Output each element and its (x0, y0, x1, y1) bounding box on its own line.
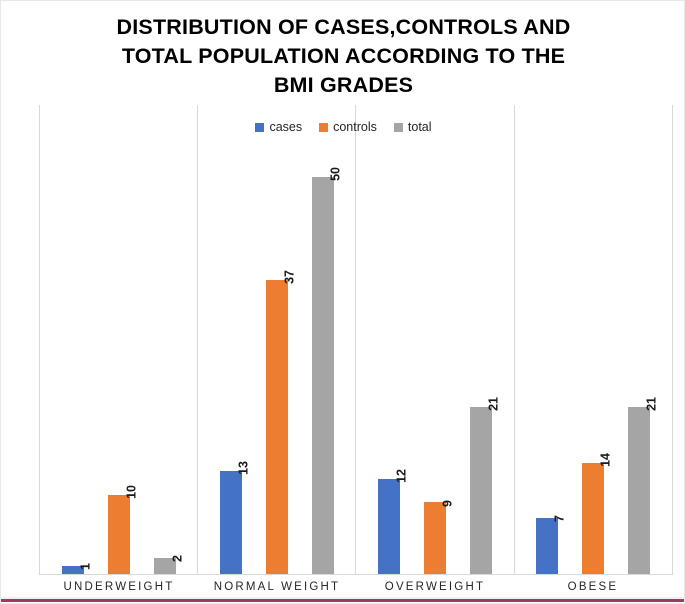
bar-value-label: 13 (237, 461, 250, 475)
bar-value-label: 37 (283, 270, 296, 284)
bar-slot-cases: 13 (220, 471, 242, 574)
bar-slot-total: 21 (470, 407, 492, 574)
category-label-obese: OBESE (514, 581, 672, 593)
bar-group-overweight: 12921 (356, 105, 514, 574)
category-label-underweight: UNDERWEIGHT (40, 581, 198, 593)
category-label-normal-weight: NORMAL WEIGHT (198, 581, 356, 593)
bar-cases[interactable] (378, 479, 400, 574)
bar-slot-cases: 12 (378, 479, 400, 574)
bar-value-label: 7 (553, 515, 566, 522)
footer-rule (1, 599, 685, 602)
bar-value-label: 2 (171, 555, 184, 562)
bar-slot-controls: 14 (582, 463, 604, 574)
legend-swatch-total (394, 123, 403, 132)
category-label-overweight: OVERWEIGHT (356, 581, 514, 593)
bar-total[interactable] (628, 407, 650, 574)
bar-group-obese: 71421 (514, 105, 672, 574)
bar-group-underweight: 1102 (40, 105, 198, 574)
bar-total[interactable] (470, 407, 492, 574)
legend-item-total[interactable]: total (394, 121, 432, 134)
category-axis-line (39, 574, 673, 575)
bar-slot-total: 2 (154, 558, 176, 574)
bar-group-normal-weight: 133750 (198, 105, 356, 574)
bar-value-label: 1 (79, 563, 92, 570)
bar-value-label: 14 (599, 453, 612, 467)
bar-controls[interactable] (582, 463, 604, 574)
bar-groups: 11021337501292171421 (40, 105, 672, 574)
chart-title-line-2: TOTAL POPULATION ACCORDING TO THE (61, 42, 626, 71)
bar-slot-cases: 1 (62, 566, 84, 574)
bar-slot-cases: 7 (536, 518, 558, 574)
bar-value-label: 50 (329, 167, 342, 181)
legend-label-cases: cases (269, 121, 302, 134)
legend-label-controls: controls (333, 121, 377, 134)
chart-legend: cases controls total (1, 121, 685, 134)
chart-figure: DISTRIBUTION OF CASES,CONTROLS AND TOTAL… (0, 0, 685, 604)
bar-total[interactable] (312, 177, 334, 574)
bar-value-label: 21 (645, 397, 658, 411)
bar-cases[interactable] (536, 518, 558, 574)
bar-value-label: 9 (441, 500, 454, 507)
chart-title-line-3: BMI GRADES (61, 71, 626, 100)
legend-swatch-cases (255, 123, 264, 132)
bar-value-label: 12 (395, 469, 408, 483)
bar-slot-controls: 10 (108, 495, 130, 574)
bar-slot-controls: 9 (424, 502, 446, 574)
category-axis-labels: UNDERWEIGHTNORMAL WEIGHTOVERWEIGHTOBESE (40, 581, 672, 593)
bar-value-label: 21 (487, 397, 500, 411)
chart-title-line-1: DISTRIBUTION OF CASES,CONTROLS AND (61, 13, 626, 42)
bar-slot-controls: 37 (266, 280, 288, 574)
bar-controls[interactable] (108, 495, 130, 574)
legend-label-total: total (408, 121, 432, 134)
legend-item-controls[interactable]: controls (319, 121, 377, 134)
chart-title: DISTRIBUTION OF CASES,CONTROLS AND TOTAL… (61, 13, 626, 100)
bar-controls[interactable] (266, 280, 288, 574)
bar-slot-total: 21 (628, 407, 650, 574)
legend-item-cases[interactable]: cases (255, 121, 302, 134)
bar-value-label: 10 (125, 485, 138, 499)
bar-slot-total: 50 (312, 177, 334, 574)
legend-swatch-controls (319, 123, 328, 132)
bar-controls[interactable] (424, 502, 446, 574)
bar-cases[interactable] (220, 471, 242, 574)
